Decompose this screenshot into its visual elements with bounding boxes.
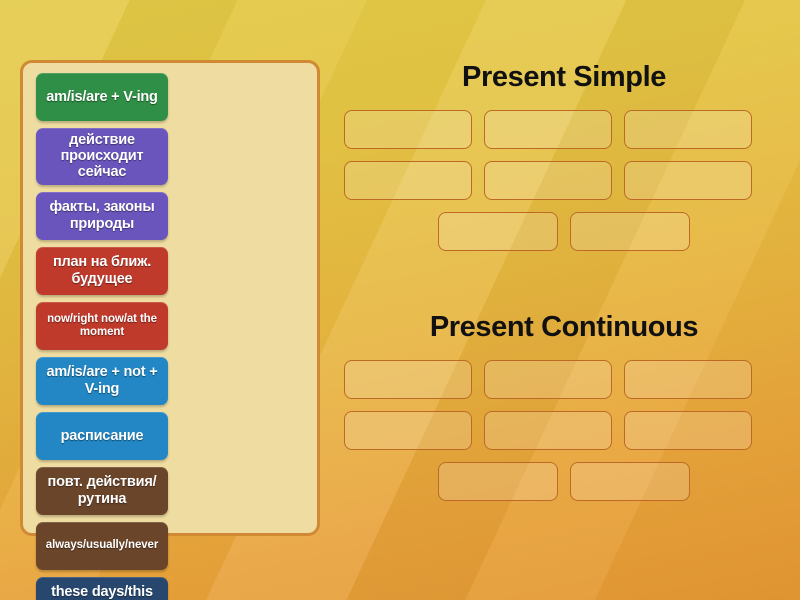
drop-slot[interactable] [570, 212, 690, 251]
draggable-tile[interactable]: always/usually/never [36, 522, 168, 570]
category-slots [344, 110, 784, 251]
category-title: Present Simple [344, 62, 784, 92]
drop-slot[interactable] [484, 411, 612, 450]
activity-stage: am/is/are + V-ingдействие происходит сей… [0, 0, 800, 600]
drop-slot[interactable] [484, 161, 612, 200]
slot-row [344, 161, 784, 200]
drop-slot[interactable] [570, 462, 690, 501]
drop-slot[interactable] [344, 161, 472, 200]
draggable-tile[interactable]: план на ближ. будущее [36, 247, 168, 295]
category-slots [344, 360, 784, 501]
category-title: Present Continuous [344, 312, 784, 342]
drop-slot[interactable] [438, 212, 558, 251]
drop-slot[interactable] [624, 411, 752, 450]
tile-tray-grid: am/is/are + V-ingдействие происходит сей… [36, 73, 304, 600]
draggable-tile[interactable]: these days/this week [36, 577, 168, 600]
drop-slot[interactable] [484, 110, 612, 149]
tile-tray: am/is/are + V-ingдействие происходит сей… [20, 60, 320, 536]
slot-row [344, 462, 784, 501]
drop-slot[interactable] [344, 110, 472, 149]
drop-slot[interactable] [624, 161, 752, 200]
drop-slot[interactable] [344, 411, 472, 450]
draggable-tile[interactable]: расписание [36, 412, 168, 460]
slot-row [344, 212, 784, 251]
draggable-tile[interactable]: now/right now/at the moment [36, 302, 168, 350]
slot-row [344, 411, 784, 450]
slot-row [344, 360, 784, 399]
draggable-tile[interactable]: действие происходит сейчас [36, 128, 168, 185]
slot-row [344, 110, 784, 149]
drop-slot[interactable] [344, 360, 472, 399]
drop-slot[interactable] [484, 360, 612, 399]
draggable-tile[interactable]: am/is/are + not + V-ing [36, 357, 168, 405]
category-present-simple: Present Simple [344, 62, 784, 263]
drop-slot[interactable] [624, 360, 752, 399]
draggable-tile[interactable]: повт. действия/рутина [36, 467, 168, 515]
draggable-tile[interactable]: am/is/are + V-ing [36, 73, 168, 121]
drop-slot[interactable] [624, 110, 752, 149]
category-present-continuous: Present Continuous [344, 312, 784, 513]
drop-slot[interactable] [438, 462, 558, 501]
draggable-tile[interactable]: факты, законы природы [36, 192, 168, 240]
